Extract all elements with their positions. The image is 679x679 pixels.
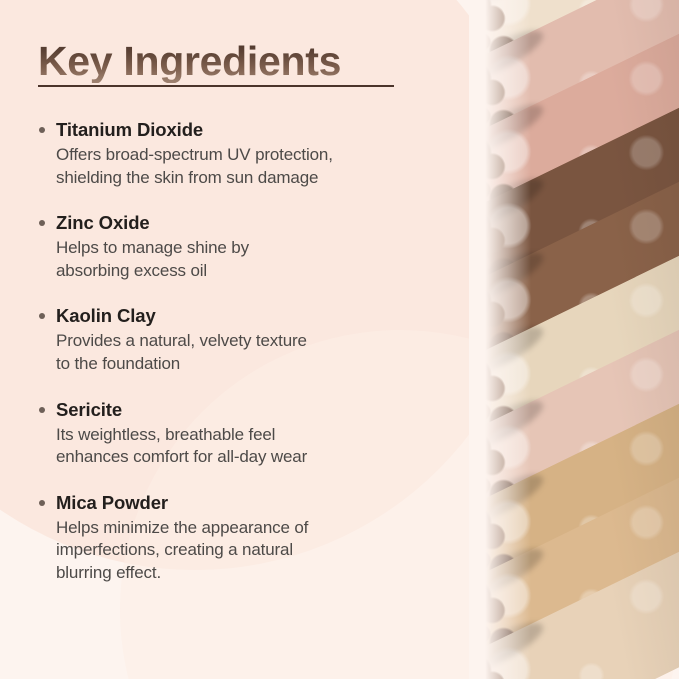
list-item: Zinc OxideHelps to manage shine by absor… — [34, 211, 454, 282]
powder-swatch-band-stack — [469, 0, 679, 679]
bullet-dot-icon — [39, 127, 45, 133]
ingredients-content: Key Ingredients Titanium DioxideOffers b… — [0, 0, 470, 679]
ingredient-description: Helps to manage shine by absorbing exces… — [56, 237, 454, 282]
page-title-group: Key Ingredients — [38, 40, 394, 87]
page-title: Key Ingredients — [38, 40, 394, 83]
key-ingredients-infographic: Key Ingredients Titanium DioxideOffers b… — [0, 0, 679, 679]
ingredient-list: Titanium DioxideOffers broad-spectrum UV… — [34, 118, 454, 585]
powder-swatch-image — [469, 0, 679, 679]
bullet-dot-icon — [39, 313, 45, 319]
ingredient-name: Zinc Oxide — [56, 211, 454, 236]
ingredient-description: Offers broad-spectrum UV protection, shi… — [56, 144, 454, 189]
ingredient-name: Sericite — [56, 398, 454, 423]
page-title-underline — [38, 85, 394, 87]
ingredient-name: Titanium Dioxide — [56, 118, 454, 143]
ingredient-name: Kaolin Clay — [56, 304, 454, 329]
ingredient-description: Provides a natural, velvety texture to t… — [56, 330, 454, 375]
list-item: Kaolin ClayProvides a natural, velvety t… — [34, 304, 454, 375]
list-item: Mica PowderHelps minimize the appearance… — [34, 491, 454, 585]
list-item: Titanium DioxideOffers broad-spectrum UV… — [34, 118, 454, 189]
list-item: SericiteIts weightless, breathable feel … — [34, 398, 454, 469]
powder-crumb-edge — [469, 650, 531, 679]
bullet-dot-icon — [39, 500, 45, 506]
ingredient-name: Mica Powder — [56, 491, 454, 516]
ingredient-description: Helps minimize the appearance of imperfe… — [56, 517, 454, 585]
bullet-dot-icon — [39, 220, 45, 226]
bullet-dot-icon — [39, 407, 45, 413]
ingredient-description: Its weightless, breathable feel enhances… — [56, 424, 454, 469]
